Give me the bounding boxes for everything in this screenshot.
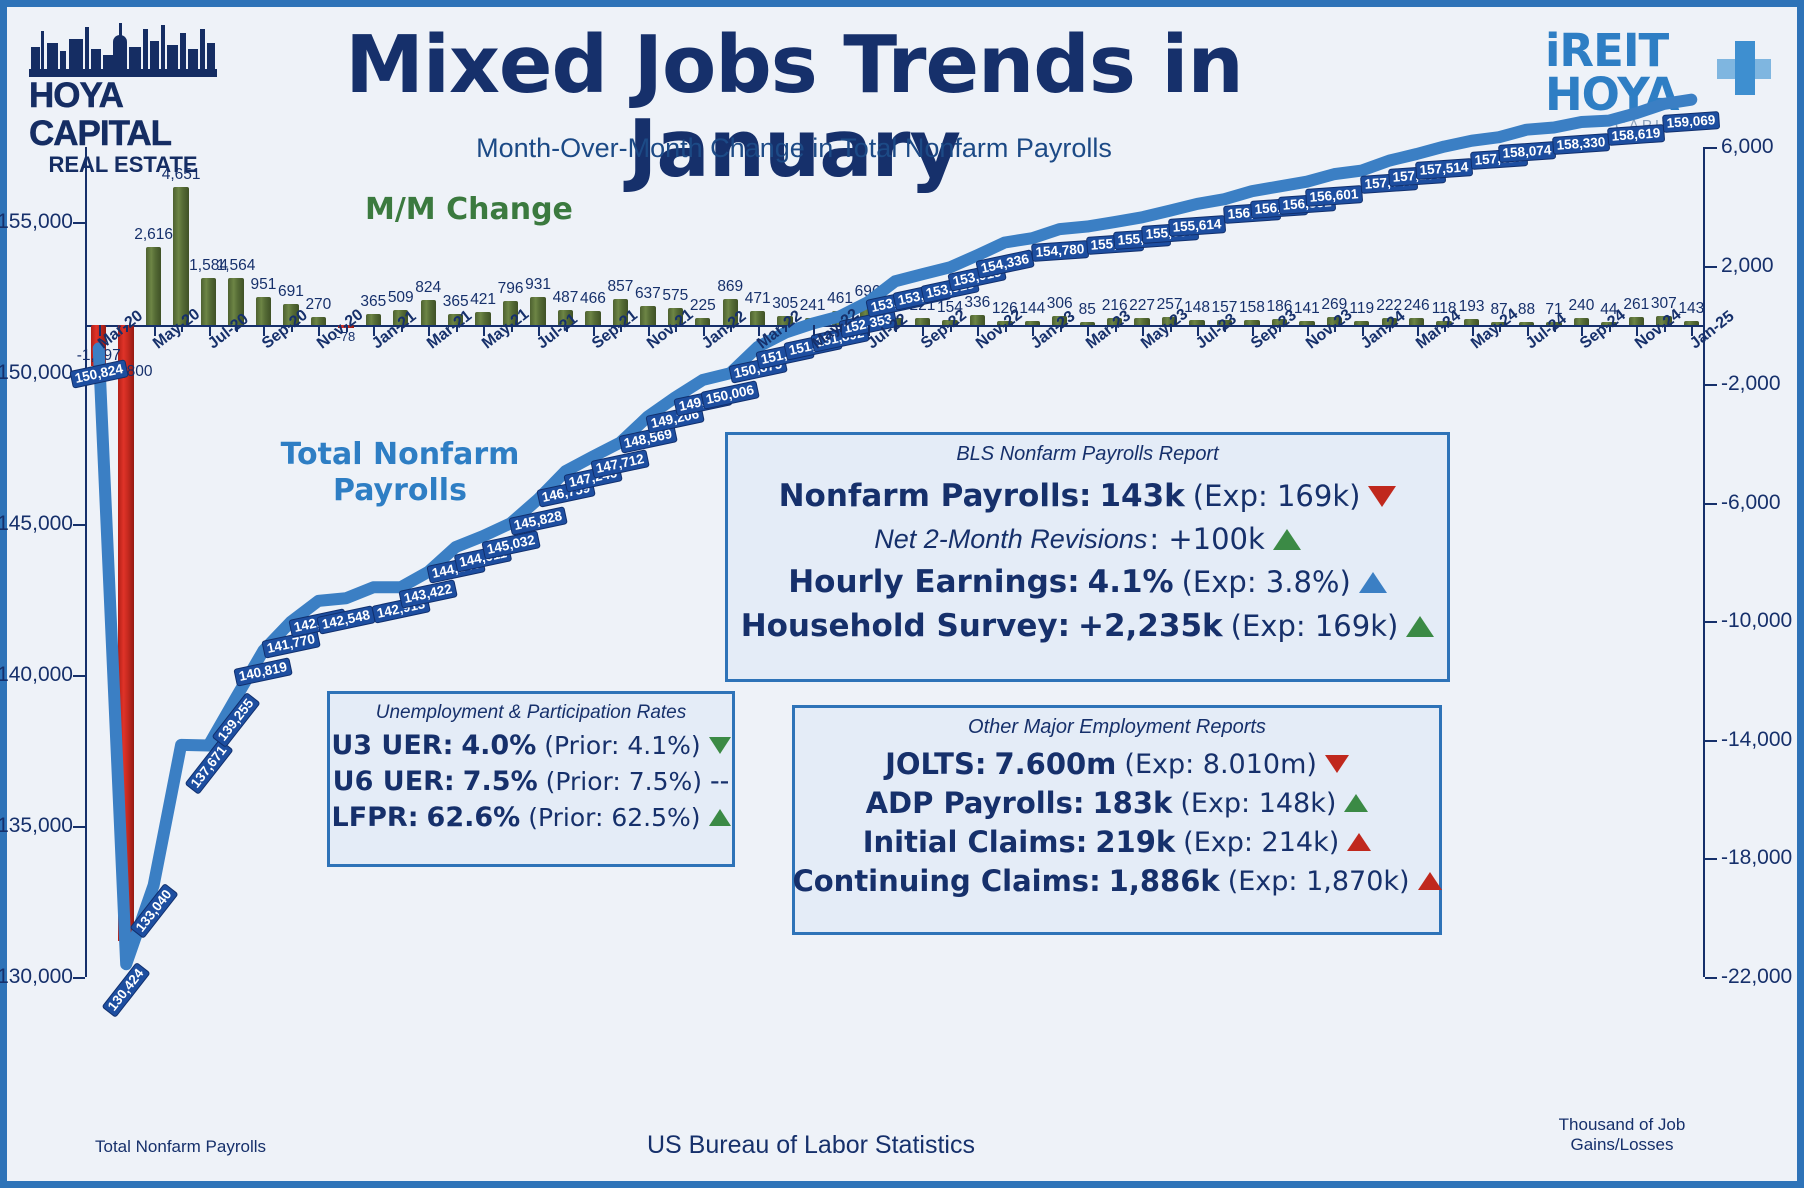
x-axis-tick bbox=[785, 325, 787, 332]
y2-axis-tick-label: 2,000 bbox=[1721, 254, 1774, 278]
x-axis-tick bbox=[840, 325, 842, 332]
bls-row-revisions: Net 2-Month Revisions : +100k bbox=[728, 522, 1447, 556]
x-axis-tick bbox=[1279, 325, 1281, 332]
other-row-1-paren: (Exp: 148k) bbox=[1180, 788, 1336, 819]
y-axis-tick bbox=[73, 222, 85, 224]
x-axis-tick bbox=[456, 325, 458, 332]
y2-axis-tick bbox=[1705, 740, 1717, 742]
infographic-root: HOYA CAPITAL REAL ESTATE Mixed Jobs Tren… bbox=[0, 0, 1804, 1188]
skyline-icon bbox=[29, 21, 217, 77]
y-axis-tick bbox=[73, 826, 85, 828]
x-axis-tick bbox=[511, 325, 513, 332]
rates-row-lfpr: LFPR: 62.6% (Prior: 62.5%) bbox=[330, 802, 732, 833]
plus-icon bbox=[1717, 41, 1771, 95]
down-arrow-icon bbox=[709, 737, 731, 754]
y-axis-tick-label: 145,000 bbox=[0, 512, 73, 536]
other-row-2-paren: (Exp: 214k) bbox=[1183, 827, 1339, 858]
y2-axis-tick bbox=[1705, 266, 1717, 268]
down-arrow-icon bbox=[1325, 755, 1349, 773]
line-label-Jan-25: 159,069 bbox=[1662, 111, 1720, 133]
other-row-jolts: JOLTS: 7.600m (Exp: 8.010m) bbox=[795, 747, 1439, 781]
y2-axis-tick-label: -10,000 bbox=[1721, 609, 1792, 633]
up-arrow-icon bbox=[709, 809, 731, 826]
x-axis-tick bbox=[895, 325, 897, 332]
rates-row-0-value: 4.0% bbox=[461, 730, 536, 761]
x-axis-tick bbox=[1499, 325, 1501, 332]
bls-row-0-label: Nonfarm Payrolls: bbox=[779, 478, 1092, 514]
mm-change-legend: M/M Change bbox=[365, 192, 573, 227]
other-row-2-label: Initial Claims: bbox=[863, 825, 1088, 859]
up-arrow-icon bbox=[1273, 529, 1301, 550]
x-axis-tick bbox=[620, 325, 622, 332]
y-axis-tick bbox=[73, 977, 85, 979]
y-axis-tick bbox=[73, 524, 85, 526]
y2-axis-tick-label: -22,000 bbox=[1721, 965, 1792, 989]
y-axis-tick-label: 155,000 bbox=[0, 210, 73, 234]
rates-row-u3: U3 UER: 4.0% (Prior: 4.1%) bbox=[330, 730, 732, 761]
x-axis-tick bbox=[401, 325, 403, 332]
x-axis-tick bbox=[1060, 325, 1062, 332]
bls-box-title: BLS Nonfarm Payrolls Report bbox=[728, 443, 1447, 466]
other-row-1-label: ADP Payrolls: bbox=[866, 786, 1085, 820]
x-axis-tick bbox=[236, 325, 238, 332]
bls-row-3-paren: (Exp: 169k) bbox=[1231, 609, 1399, 643]
x-axis-tick bbox=[1170, 325, 1172, 332]
bls-row-0-value: 143k bbox=[1099, 478, 1184, 514]
x-axis-tick bbox=[950, 325, 952, 332]
bls-row-nonfarm: Nonfarm Payrolls: 143k (Exp: 169k) bbox=[728, 478, 1447, 514]
other-row-3-value: 1,886k bbox=[1109, 864, 1220, 898]
hoya-logo-line1: HOYA CAPITAL bbox=[29, 77, 225, 153]
x-axis-tick bbox=[566, 325, 568, 332]
bls-nonfarm-payrolls-box: BLS Nonfarm Payrolls Report Nonfarm Payr… bbox=[725, 432, 1450, 682]
bls-row-household-survey: Household Survey: +2,235k (Exp: 169k) bbox=[728, 608, 1447, 644]
other-row-initial-claims: Initial Claims: 219k (Exp: 214k) bbox=[795, 825, 1439, 859]
rates-row-1-paren: (Prior: 7.5%) bbox=[546, 767, 702, 796]
x-axis-tick bbox=[1609, 325, 1611, 332]
bls-row-0-paren: (Exp: 169k) bbox=[1193, 479, 1361, 513]
rates-row-0-label: U3 UER: bbox=[331, 730, 453, 761]
line-label-Jul-23: 155,614 bbox=[1168, 215, 1226, 237]
y2-axis-tick bbox=[1705, 977, 1717, 979]
y2-axis-tick-label: -2,000 bbox=[1721, 372, 1781, 396]
bls-row-2-label: Hourly Earnings: bbox=[788, 564, 1079, 600]
x-axis-tick bbox=[346, 325, 348, 332]
total-nonfarm-legend-line1: Total Nonfarm bbox=[270, 437, 530, 473]
y2-axis-tick-label: -18,000 bbox=[1721, 846, 1792, 870]
x-axis-tick bbox=[1115, 325, 1117, 332]
bls-row-1-label: Net 2-Month Revisions bbox=[874, 524, 1147, 555]
y2-axis-tick-label: -14,000 bbox=[1721, 728, 1792, 752]
other-row-0-label: JOLTS: bbox=[885, 747, 986, 781]
rates-row-2-paren: (Prior: 62.5%) bbox=[528, 803, 700, 832]
line-label-Nov-24: 158,619 bbox=[1607, 124, 1665, 146]
hoya-capital-logo: HOYA CAPITAL REAL ESTATE bbox=[29, 21, 225, 149]
bls-row-hourly-earnings: Hourly Earnings: 4.1% (Exp: 3.8%) bbox=[728, 564, 1447, 600]
x-axis-tick bbox=[1334, 325, 1336, 332]
bls-row-3-value: +2,235k bbox=[1078, 608, 1223, 644]
other-box-title: Other Major Employment Reports bbox=[795, 716, 1439, 739]
other-row-0-paren: (Exp: 8.010m) bbox=[1124, 749, 1317, 780]
rates-row-u6: U6 UER: 7.5% (Prior: 7.5%) -- bbox=[330, 765, 732, 798]
x-axis-tick bbox=[1664, 325, 1666, 332]
down-arrow-icon bbox=[1368, 486, 1396, 507]
rates-row-2-label: LFPR: bbox=[332, 802, 419, 833]
y-axis-tick-label: 140,000 bbox=[0, 663, 73, 687]
rates-row-1-value: 7.5% bbox=[463, 766, 538, 797]
right-axis-caption-line2: Gains/Losses bbox=[1527, 1135, 1717, 1155]
rates-box-title: Unemployment & Participation Rates bbox=[330, 702, 732, 724]
y2-axis-tick bbox=[1705, 147, 1717, 149]
y-axis-tick-label: 135,000 bbox=[0, 814, 73, 838]
rates-row-1-label: U6 UER: bbox=[333, 766, 455, 797]
right-axis-caption-line1: Thousand of Job bbox=[1527, 1115, 1717, 1135]
x-axis-tick bbox=[1389, 325, 1391, 332]
x-axis-tick bbox=[675, 325, 677, 332]
x-axis-tick bbox=[1224, 325, 1226, 332]
bls-row-2-value: 4.1% bbox=[1088, 564, 1174, 600]
right-axis-caption: Thousand of Job Gains/Losses bbox=[1527, 1115, 1717, 1155]
flat-dash-icon: -- bbox=[710, 765, 729, 798]
bls-row-2-paren: (Exp: 3.8%) bbox=[1182, 565, 1351, 599]
other-row-3-label: Continuing Claims: bbox=[792, 864, 1100, 898]
total-nonfarm-legend-line2: Payrolls bbox=[270, 473, 530, 509]
x-axis-tick bbox=[126, 325, 128, 332]
left-axis-caption: Total Nonfarm Payrolls bbox=[95, 1137, 266, 1157]
y2-axis-tick bbox=[1705, 621, 1717, 623]
x-axis-tick bbox=[291, 325, 293, 332]
x-axis-tick bbox=[1005, 325, 1007, 332]
other-row-1-value: 183k bbox=[1092, 786, 1172, 820]
source-label: US Bureau of Labor Statistics bbox=[647, 1131, 975, 1160]
y2-axis-tick bbox=[1705, 858, 1717, 860]
y2-axis-tick-label: -6,000 bbox=[1721, 491, 1781, 515]
y2-axis-tick-label: 6,000 bbox=[1721, 135, 1774, 159]
other-employment-reports-box: Other Major Employment Reports JOLTS: 7.… bbox=[792, 705, 1442, 935]
up-arrow-icon bbox=[1418, 872, 1442, 890]
y-axis-tick-label: 150,000 bbox=[0, 361, 73, 385]
y-axis-tick-label: 130,000 bbox=[0, 965, 73, 989]
y-axis-tick bbox=[73, 675, 85, 677]
up-arrow-icon bbox=[1347, 833, 1371, 851]
other-row-0-value: 7.600m bbox=[994, 747, 1116, 781]
other-row-3-paren: (Exp: 1,870k) bbox=[1228, 866, 1410, 897]
line-label-Apr-24: 157,514 bbox=[1415, 158, 1473, 180]
up-arrow-icon bbox=[1406, 616, 1434, 637]
other-row-2-value: 219k bbox=[1095, 825, 1175, 859]
bls-row-3-label: Household Survey: bbox=[741, 608, 1070, 644]
rates-row-2-value: 62.6% bbox=[427, 802, 521, 833]
other-row-continuing-claims: Continuing Claims: 1,886k (Exp: 1,870k) bbox=[795, 864, 1439, 898]
up-arrow-icon bbox=[1359, 572, 1387, 593]
unemployment-participation-box: Unemployment & Participation Rates U3 UE… bbox=[327, 691, 735, 867]
y2-axis-tick bbox=[1705, 503, 1717, 505]
x-axis-tick bbox=[181, 325, 183, 332]
y2-axis-tick bbox=[1705, 384, 1717, 386]
bls-row-1-value: : +100k bbox=[1149, 522, 1264, 556]
total-nonfarm-legend: Total Nonfarm Payrolls bbox=[270, 437, 530, 509]
x-axis-tick bbox=[1554, 325, 1556, 332]
other-row-adp: ADP Payrolls: 183k (Exp: 148k) bbox=[795, 786, 1439, 820]
up-arrow-icon bbox=[1344, 794, 1368, 812]
x-axis-tick bbox=[730, 325, 732, 332]
rates-row-0-paren: (Prior: 4.1%) bbox=[544, 731, 700, 760]
x-axis-tick bbox=[1444, 325, 1446, 332]
line-label-Jul-24: 158,074 bbox=[1498, 141, 1556, 163]
